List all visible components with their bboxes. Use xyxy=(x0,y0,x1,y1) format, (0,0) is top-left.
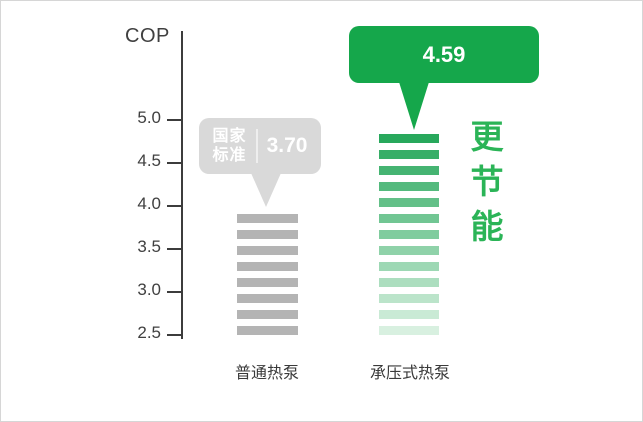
bar-stripe xyxy=(379,230,439,239)
national-standard-label: 国家标准 xyxy=(213,127,247,165)
value-callout-value: 4.59 xyxy=(423,42,466,68)
bar-stripe xyxy=(379,278,439,287)
bar-ordinary-heat-pump[interactable] xyxy=(237,207,298,335)
y-axis-tick: 3.0 xyxy=(119,291,183,293)
y-axis-tick: 4.0 xyxy=(119,205,183,207)
chart-canvas: COP 5.04.54.03.53.02.5 普通热泵 承压式热泵 国家标准 3… xyxy=(0,0,643,422)
bar-stripe xyxy=(379,262,439,271)
bar-stripe xyxy=(237,262,298,271)
bar-stripe xyxy=(379,246,439,255)
bar-stripe xyxy=(237,278,298,287)
national-standard-label-line: 国家 xyxy=(213,127,247,146)
y-axis-tick-label: 4.5 xyxy=(137,151,161,171)
y-axis-tick: 4.5 xyxy=(119,162,183,164)
energy-saving-note-char: 节 xyxy=(467,159,507,204)
bar-stripe xyxy=(237,230,298,239)
bar-stripe xyxy=(379,310,439,319)
national-standard-callout[interactable]: 国家标准 3.70 xyxy=(199,118,321,174)
bar-stripe xyxy=(379,198,439,207)
energy-saving-note-char: 更 xyxy=(467,114,507,159)
y-axis-tick-mark xyxy=(167,162,183,164)
y-axis-tick: 3.5 xyxy=(119,248,183,250)
y-axis-tick: 5.0 xyxy=(119,119,183,121)
bar-stripe xyxy=(379,150,439,159)
national-standard-label-line: 标准 xyxy=(213,146,247,165)
bar-stripe xyxy=(379,134,439,143)
bar-stripe xyxy=(379,294,439,303)
y-axis-title: COP xyxy=(125,25,170,48)
y-axis-tick: 2.5 xyxy=(119,334,183,336)
y-axis-tick-label: 3.0 xyxy=(137,280,161,300)
category-label-pressurized-heat-pump: 承压式热泵 xyxy=(339,359,481,383)
y-axis-tick-mark xyxy=(167,248,183,250)
bar-stripe xyxy=(379,166,439,175)
y-axis-tick-label: 3.5 xyxy=(137,237,161,257)
y-axis-tick-label: 4.0 xyxy=(137,194,161,214)
callout-pointer-icon xyxy=(399,82,429,130)
y-axis-tick-label: 2.5 xyxy=(137,323,161,343)
y-axis-tick-mark xyxy=(167,291,183,293)
bar-stripe xyxy=(237,294,298,303)
y-axis-tick-mark xyxy=(167,205,183,207)
bar-stripe xyxy=(237,214,298,223)
national-standard-value: 3.70 xyxy=(267,134,308,158)
value-callout[interactable]: 4.59 xyxy=(349,26,539,83)
y-axis-tick-label: 5.0 xyxy=(137,108,161,128)
bar-stripe xyxy=(379,182,439,191)
callout-divider xyxy=(256,129,258,163)
bar-pressurized-heat-pump[interactable] xyxy=(379,121,439,335)
bar-stripe xyxy=(237,310,298,319)
bar-stripe xyxy=(379,326,439,335)
callout-pointer-icon xyxy=(251,173,281,207)
bar-stripe xyxy=(237,326,298,335)
category-label-ordinary-heat-pump: 普通热泵 xyxy=(197,359,337,383)
y-axis-tick-mark xyxy=(167,119,183,121)
national-standard-callout-content: 国家标准 3.70 xyxy=(213,127,308,165)
bar-stripe xyxy=(379,214,439,223)
energy-saving-note: 更节能 xyxy=(467,114,507,249)
y-axis-tick-mark xyxy=(167,334,183,336)
energy-saving-note-char: 能 xyxy=(467,204,507,249)
bar-stripe xyxy=(237,246,298,255)
